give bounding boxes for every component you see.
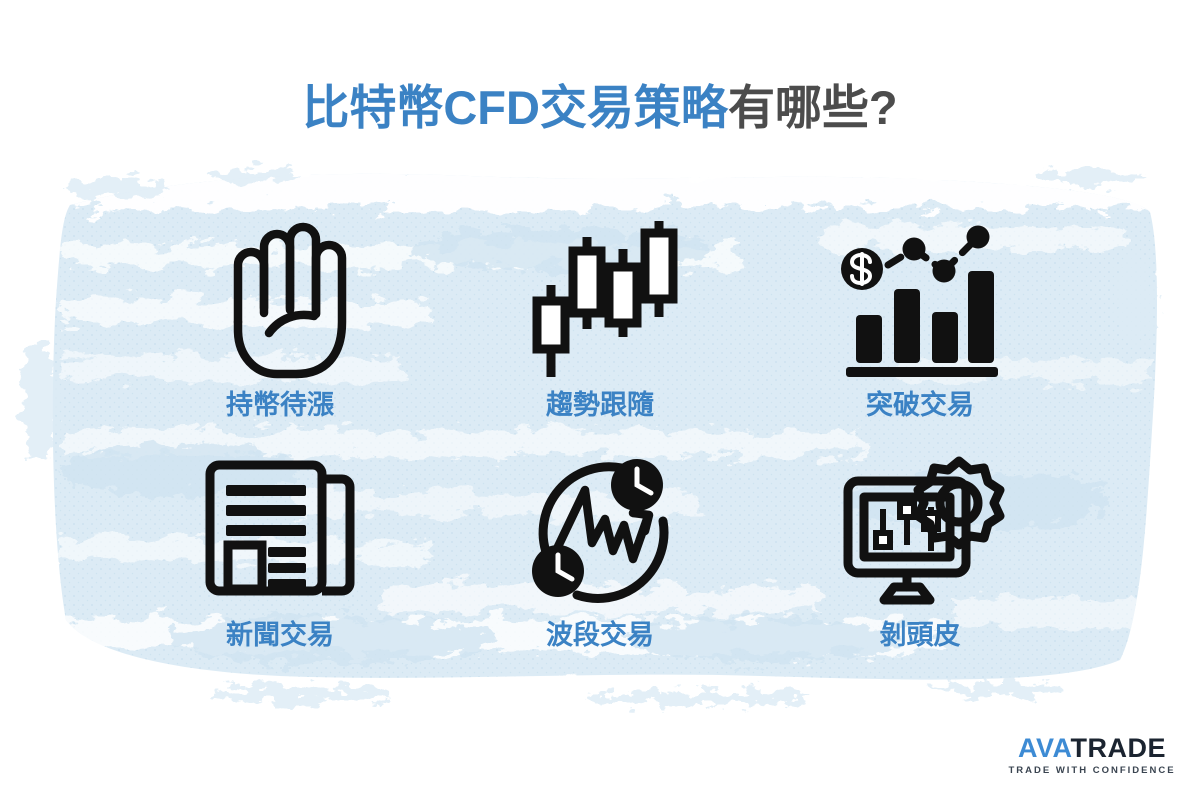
strategy-card-swing-trading[interactable]: 波段交易 (440, 455, 760, 683)
bar-chart-breakout-icon (835, 215, 1005, 383)
clock-cycle-arrow-icon (515, 455, 685, 605)
strategy-label: 突破交易 (866, 389, 974, 421)
strategy-card-scalping[interactable]: 剝頭皮 (760, 455, 1080, 683)
logo-word-trade: TRADE (1071, 733, 1167, 763)
strategy-label: 持幣待漲 (226, 389, 334, 421)
candlestick-chart-icon (515, 215, 685, 383)
title-blue-segment: 比特幣CFD交易策略 (302, 81, 728, 134)
strategy-grid: 持幣待漲 (120, 215, 1080, 695)
page-title: 比特幣CFD交易策略有哪些? (0, 78, 1200, 138)
infographic-poster: 比特幣CFD交易策略有哪些? 持幣待漲 (0, 0, 1200, 800)
open-hand-icon (195, 215, 365, 383)
newspaper-icon (195, 455, 365, 605)
strategy-label: 剝頭皮 (880, 619, 961, 651)
strategy-card-breakout[interactable]: 突破交易 (760, 215, 1080, 443)
gear-icon (918, 461, 1000, 545)
title-dark-segment: 有哪些? (728, 81, 898, 134)
dollar-coin-icon (841, 248, 883, 290)
strategy-label: 趨勢跟隨 (546, 389, 654, 421)
strategy-label: 波段交易 (546, 619, 654, 651)
clock-icon-bottom (532, 545, 584, 597)
strategy-card-trend-following[interactable]: 趨勢跟隨 (440, 215, 760, 443)
avatrade-logo[interactable]: AVATRADE TRADE WITH CONFIDENCE (1006, 734, 1178, 776)
logo-word-ava: AVA (1018, 733, 1071, 763)
logo-wordmark: AVATRADE (1006, 734, 1178, 762)
monitor-gear-icon (835, 455, 1005, 605)
strategy-card-hodl[interactable]: 持幣待漲 (120, 215, 440, 443)
strategy-card-news-trading[interactable]: 新聞交易 (120, 455, 440, 683)
logo-tagline: TRADE WITH CONFIDENCE (1006, 765, 1178, 776)
strategy-label: 新聞交易 (226, 619, 334, 651)
clock-icon-top (611, 459, 663, 511)
